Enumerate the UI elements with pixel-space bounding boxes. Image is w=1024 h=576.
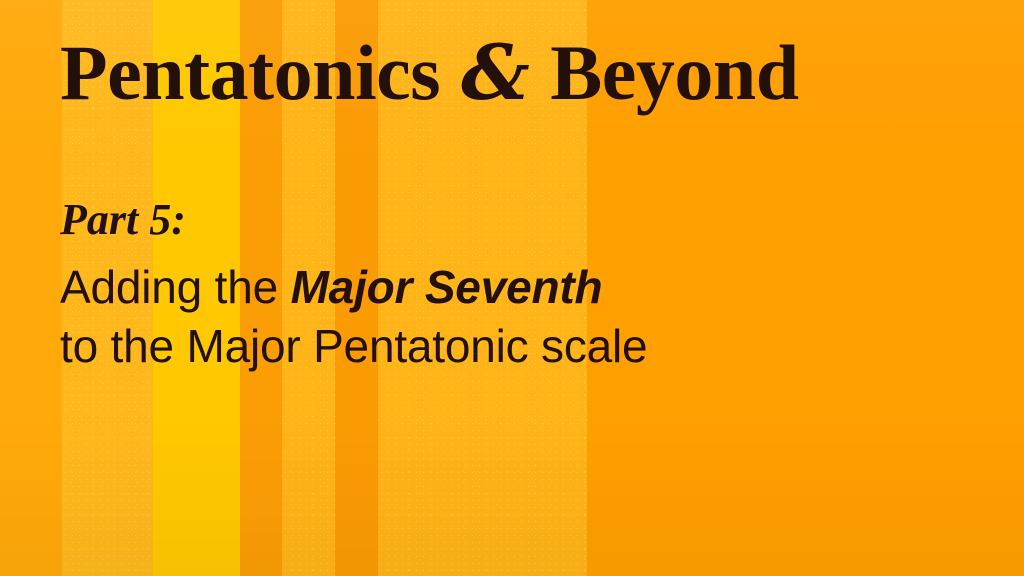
slide-title-word-1: Pentatonics xyxy=(60,29,440,116)
subtitle-line-2: to the Major Pentatonic scale xyxy=(60,317,647,377)
subtitle-line-1-prefix: Adding the xyxy=(60,261,278,313)
part-number-label: Part 5: xyxy=(60,196,647,244)
subtitle-line-1: Adding the Major Seventh xyxy=(60,258,647,318)
slide-content: Pentatonics & Beyond Part 5: Adding the … xyxy=(0,0,1024,576)
slide-title-word-2: Beyond xyxy=(550,29,798,116)
ampersand-glyph: & xyxy=(459,28,531,117)
slide-subtitle-block: Part 5: Adding the Major Seventh to the … xyxy=(60,196,647,377)
subtitle-line-1-emphasis: Major Seventh xyxy=(291,261,603,313)
slide-title: Pentatonics & Beyond xyxy=(60,34,799,112)
presentation-slide: Pentatonics & Beyond Part 5: Adding the … xyxy=(0,0,1024,576)
